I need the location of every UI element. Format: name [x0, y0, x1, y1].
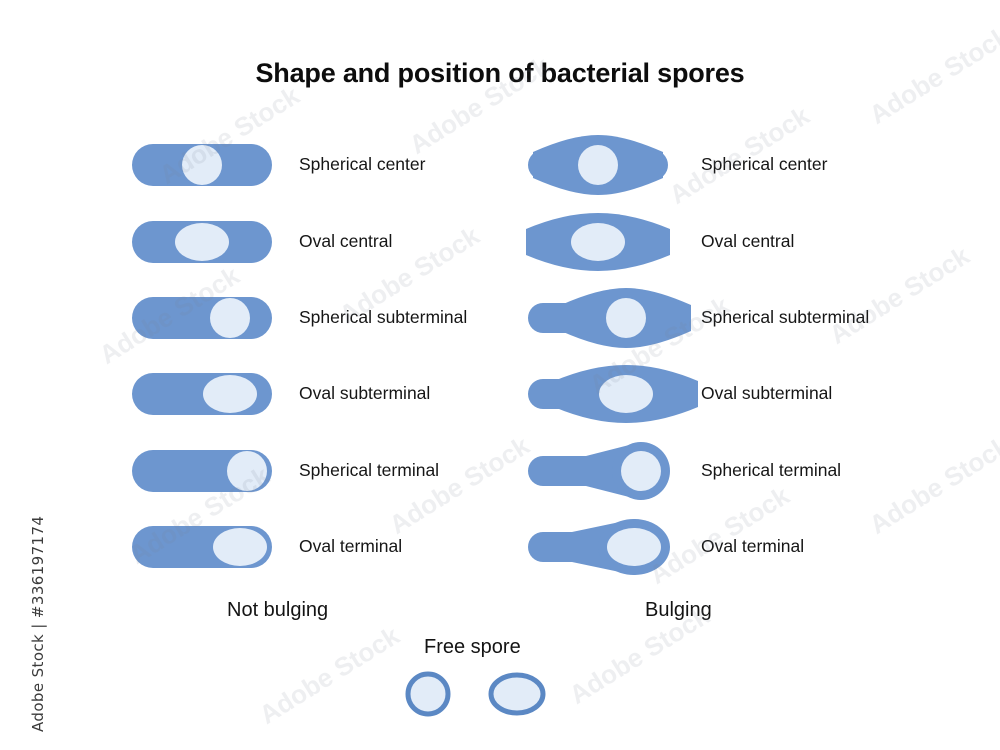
column-heading-not-bulging: Not bulging	[227, 600, 328, 620]
free-spore-oval	[483, 667, 551, 721]
spore	[571, 223, 625, 261]
diagram-canvas: Shape and position of bacterial spores S…	[0, 0, 1000, 750]
stock-watermark: Adobe Stock | #336197174	[29, 502, 47, 732]
page-title: Shape and position of bacterial spores	[0, 58, 1000, 89]
row-label-bulging-spherical-subterminal: Spherical subterminal	[701, 309, 869, 327]
row-label-not-bulging-oval-subterminal: Oval subterminal	[299, 385, 430, 403]
watermark-tile: Adobe Stock	[864, 430, 1000, 541]
spore	[491, 675, 543, 713]
spore	[213, 528, 267, 566]
free-spore-heading: Free spore	[424, 637, 521, 657]
spore	[175, 223, 229, 261]
row-label-not-bulging-spherical-center: Spherical center	[299, 156, 425, 174]
row-label-not-bulging-spherical-terminal: Spherical terminal	[299, 462, 439, 480]
spore	[607, 528, 661, 566]
row-label-bulging-oval-subterminal: Oval subterminal	[701, 385, 832, 403]
row-label-bulging-spherical-terminal: Spherical terminal	[701, 462, 841, 480]
spore	[408, 674, 448, 714]
spore	[578, 145, 618, 185]
watermark-tile: Adobe Stock	[824, 240, 975, 351]
column-heading-bulging: Bulging	[645, 600, 712, 620]
row-label-bulging-spherical-center: Spherical center	[701, 156, 827, 174]
spore	[606, 298, 646, 338]
row-label-not-bulging-spherical-subterminal: Spherical subterminal	[299, 309, 467, 327]
row-label-bulging-oval-terminal: Oval terminal	[701, 538, 804, 556]
spore	[227, 451, 267, 491]
spore	[599, 375, 653, 413]
row-label-not-bulging-oval-central: Oval central	[299, 233, 392, 251]
spore	[203, 375, 257, 413]
free-spore-spherical	[400, 666, 456, 722]
row-label-not-bulging-oval-terminal: Oval terminal	[299, 538, 402, 556]
spore	[621, 451, 661, 491]
cell-body	[132, 297, 272, 339]
row-label-bulging-oval-central: Oval central	[701, 233, 794, 251]
spore	[210, 298, 250, 338]
spore	[182, 145, 222, 185]
watermark-tile: Adobe Stock	[254, 620, 405, 731]
